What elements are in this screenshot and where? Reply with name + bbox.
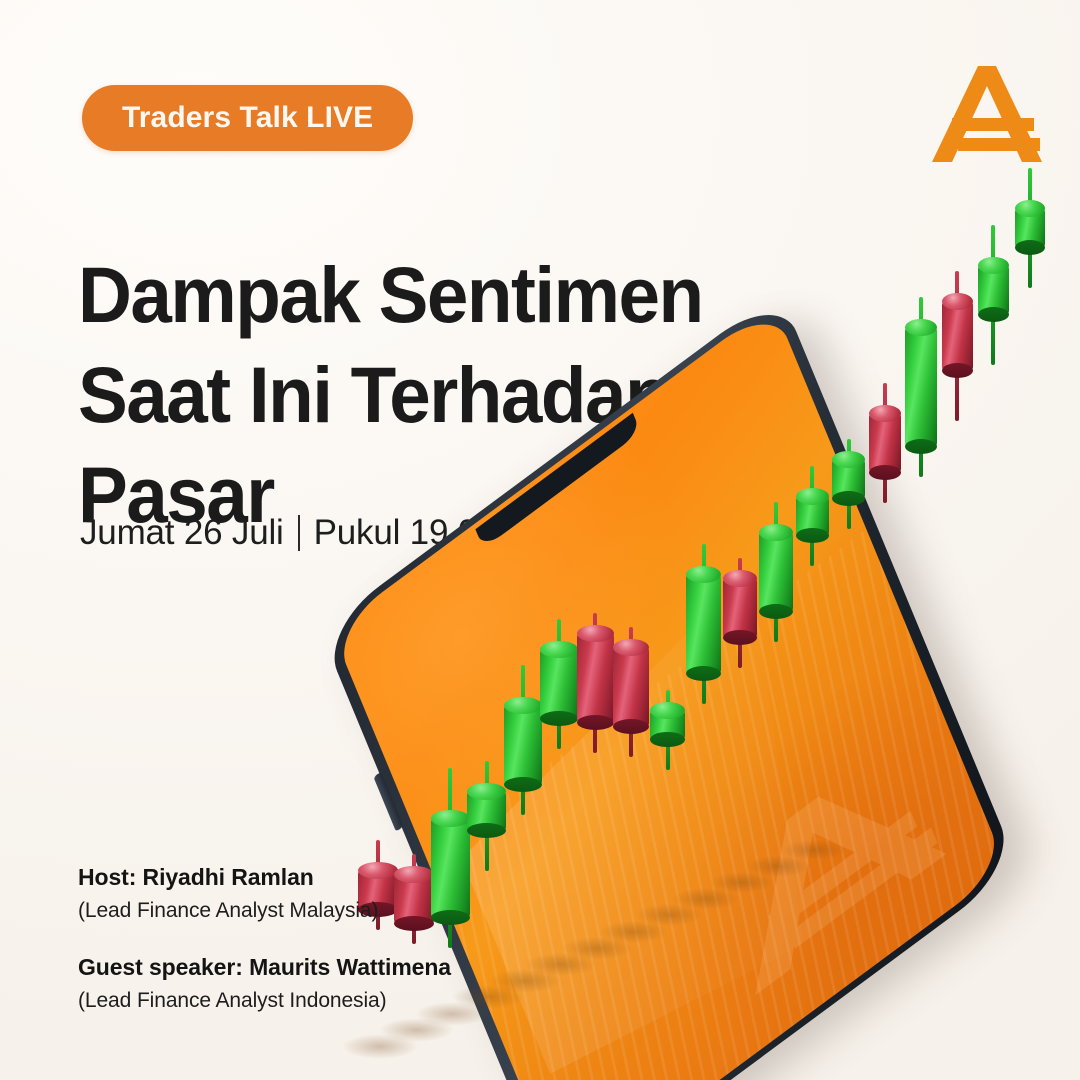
candlestick-body	[1015, 208, 1045, 248]
candlestick-wick	[883, 383, 887, 503]
credit-host-role: (Lead Finance Analyst Malaysia)	[78, 896, 451, 926]
ascendex-a-logo-icon	[930, 58, 1048, 166]
credit-guest: Guest speaker: Maurits Wattimena (Lead F…	[78, 952, 451, 1016]
candlestick-body-top	[905, 319, 937, 336]
credit-guest-role: (Lead Finance Analyst Indonesia)	[78, 986, 451, 1016]
speaker-credits: Host: Riyadhi Ramlan (Lead Finance Analy…	[78, 862, 451, 1042]
candlestick-16	[905, 297, 937, 477]
candlestick-wick	[991, 225, 995, 365]
live-badge-label: Traders Talk LIVE	[122, 101, 373, 135]
candlestick-19	[1015, 168, 1045, 288]
candlestick-body-top	[869, 405, 901, 422]
poster-canvas: Traders Talk LIVE Dampak Sentimen Saat I…	[0, 0, 1080, 1080]
candlestick-wick	[955, 271, 959, 421]
candlestick-body	[905, 327, 937, 447]
candlestick-body-bottom	[942, 363, 973, 378]
schedule-date: Jumat 26 Juli	[80, 513, 284, 553]
live-badge[interactable]: Traders Talk LIVE	[82, 85, 413, 151]
candlestick-body-bottom	[978, 307, 1009, 322]
candlestick-body-top	[978, 257, 1009, 274]
candlestick-body	[869, 413, 901, 473]
candlestick-17	[942, 271, 973, 421]
candlestick-body-bottom	[1015, 240, 1045, 255]
candlestick-body-top	[942, 293, 973, 310]
candlestick-body	[942, 301, 973, 371]
candlestick-body	[978, 265, 1009, 315]
candlestick-wick	[919, 297, 923, 477]
candlestick-body-bottom	[869, 465, 901, 480]
candlestick-body-bottom	[905, 439, 937, 454]
credit-host-name: Host: Riyadhi Ramlan	[78, 862, 451, 892]
credit-guest-name: Guest speaker: Maurits Wattimena	[78, 952, 451, 982]
candlestick-wick	[1028, 168, 1032, 288]
credit-host: Host: Riyadhi Ramlan (Lead Finance Analy…	[78, 862, 451, 926]
candlestick-18	[978, 225, 1009, 365]
candlestick-15	[869, 383, 901, 503]
candlestick-body-top	[1015, 200, 1045, 217]
